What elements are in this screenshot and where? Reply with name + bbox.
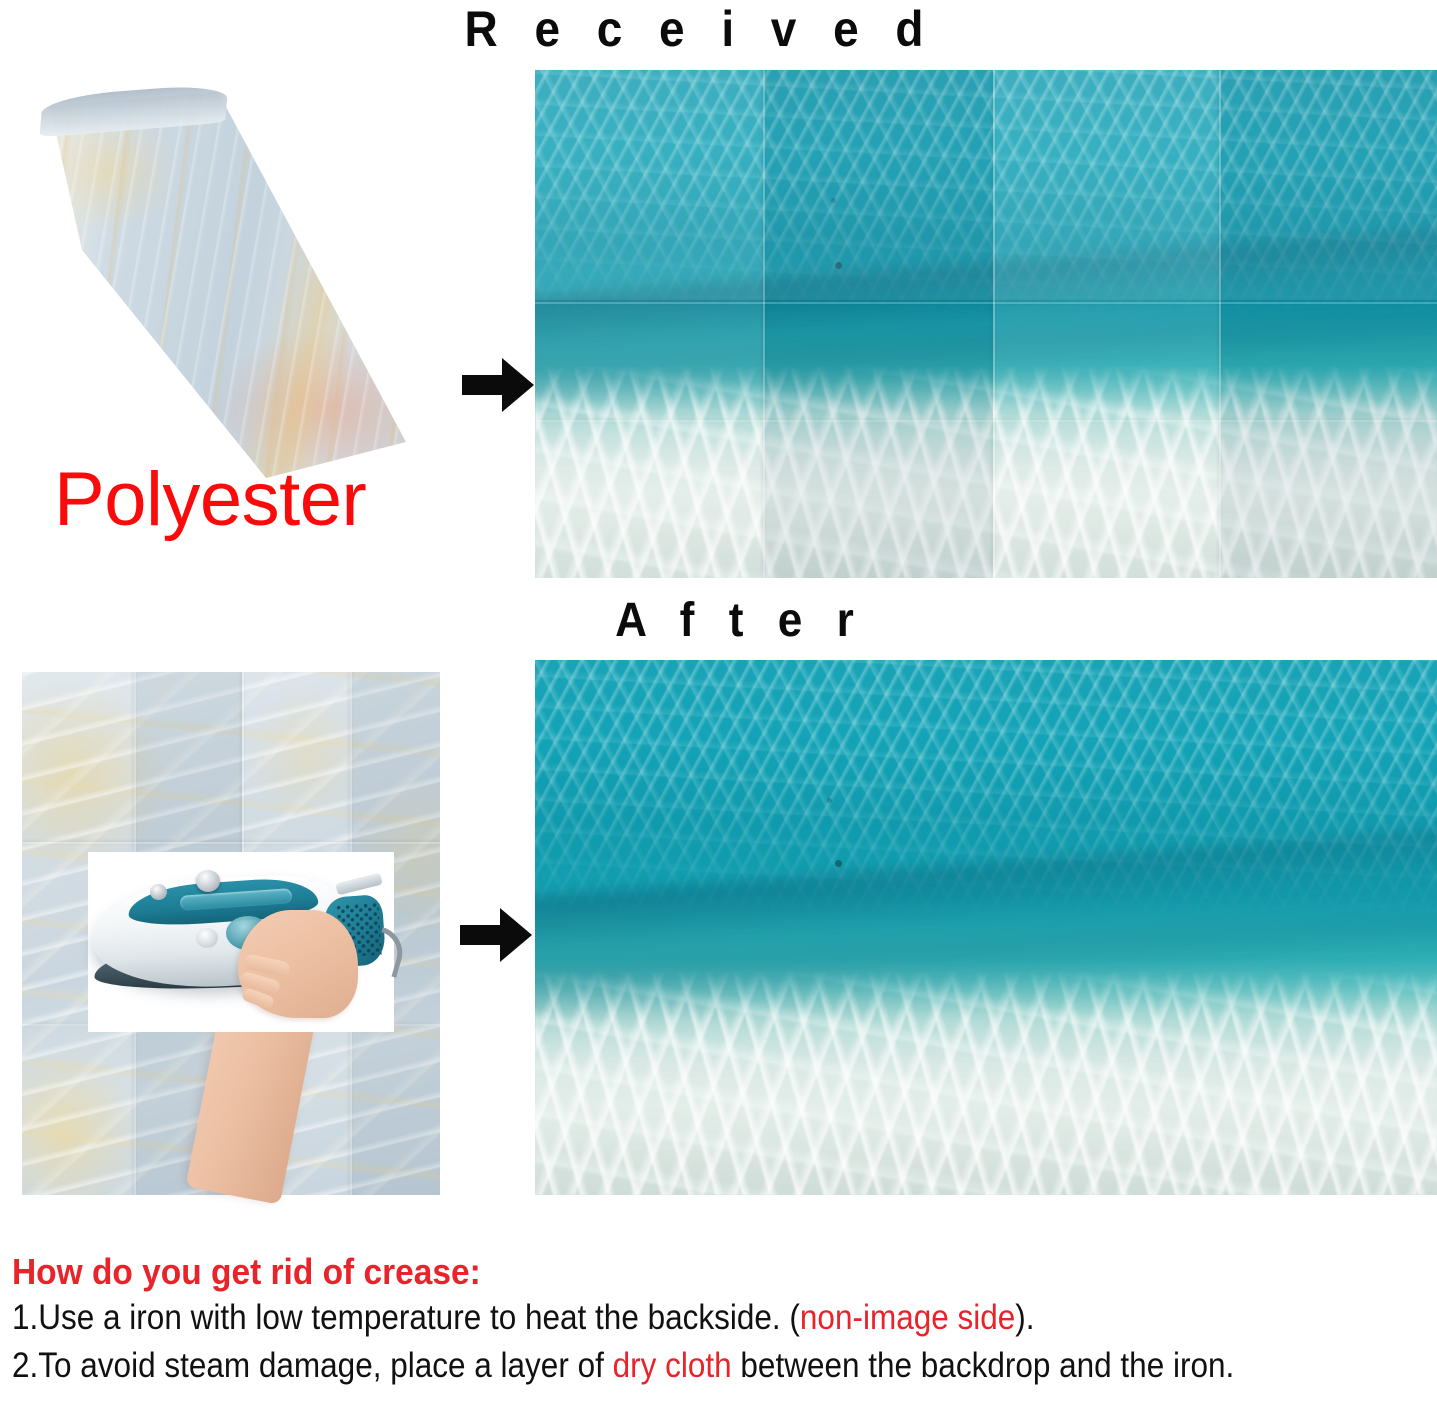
instruction-1-text-a: 1.Use a iron with low temperature to hea… xyxy=(12,1298,800,1337)
speck xyxy=(835,860,842,867)
care-instructions: How do you get rid of crease: 1.Use a ir… xyxy=(12,1250,1432,1390)
after-photo xyxy=(535,660,1437,1195)
received-heading: R e c e i v e d xyxy=(461,0,939,60)
roll-veining xyxy=(18,82,418,482)
iron-steam-knob xyxy=(196,870,220,892)
instruction-2-text-b: between the backdrop and the iron. xyxy=(732,1346,1235,1385)
iron-small-dial xyxy=(196,928,218,948)
steam-iron-icon xyxy=(88,852,394,1032)
instruction-2-text-a: 2.To avoid steam damage, place a layer o… xyxy=(12,1346,613,1385)
sandy-seafloor xyxy=(535,970,1437,1195)
instruction-line-1: 1.Use a iron with low temperature to hea… xyxy=(12,1294,1290,1342)
iron-spray-button xyxy=(150,884,167,900)
arrow-right-icon-2 xyxy=(460,908,532,962)
rolled-backdrop-image xyxy=(18,82,418,482)
sandy-seafloor xyxy=(535,365,1437,578)
instruction-line-2: 2.To avoid steam damage, place a layer o… xyxy=(12,1342,1290,1390)
iron-cord-clip xyxy=(335,873,383,896)
instructions-title: How do you get rid of crease: xyxy=(12,1250,1333,1294)
sea-scene-smooth xyxy=(535,660,1437,1195)
hand-on-iron xyxy=(238,910,358,1018)
instruction-1-highlight: non-image side xyxy=(800,1298,1015,1337)
infographic-canvas: R e c e i v e d Polyester xyxy=(0,0,1437,1401)
speck xyxy=(835,262,842,269)
arrow-right-icon-1 xyxy=(462,358,534,412)
polyester-caption: Polyester xyxy=(54,460,366,540)
speck xyxy=(831,198,836,203)
speck xyxy=(827,798,832,803)
after-heading: A f t e r xyxy=(588,592,892,650)
instruction-2-highlight: dry cloth xyxy=(613,1346,732,1385)
iron-inset-photo xyxy=(88,852,394,1032)
instruction-1-text-b: ). xyxy=(1015,1298,1034,1337)
sea-scene-creased xyxy=(535,70,1437,578)
received-photo xyxy=(535,70,1437,578)
